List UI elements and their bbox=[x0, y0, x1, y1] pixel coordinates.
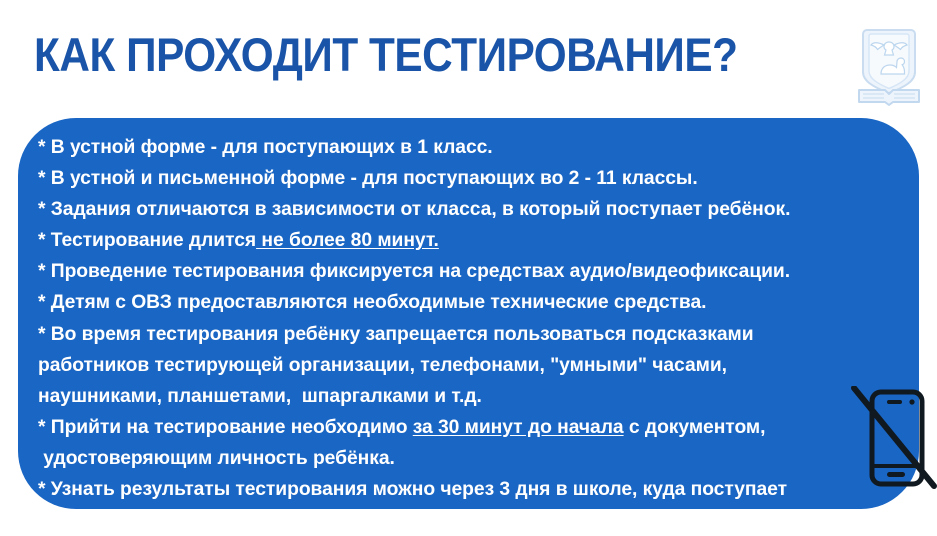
plain-text: * Задания отличаются в зависимости от кл… bbox=[38, 199, 790, 220]
line-9: наушниками, планшетами, шпаргалками и т.… bbox=[38, 381, 905, 412]
line-6: * Детям с ОВЗ предоставляются необходимы… bbox=[38, 287, 905, 318]
line-2: * В устной и письменной форме - для пост… bbox=[38, 163, 905, 194]
plain-text: * Прийти на тестирование необходимо bbox=[38, 417, 413, 438]
plain-text: * Тестирование длится bbox=[38, 230, 256, 251]
header: КАК ПРОХОДИТ ТЕСТИРОВАНИЕ? bbox=[0, 0, 937, 110]
plain-text: наушниками, планшетами, шпаргалками и т.… bbox=[38, 386, 482, 407]
line-4: * Тестирование длится не более 80 минут. bbox=[38, 225, 905, 256]
plain-text: * В устной и письменной форме - для пост… bbox=[38, 168, 698, 189]
plain-text: работников тестирующей организации, теле… bbox=[38, 355, 727, 376]
info-card: * В устной форме - для поступающих в 1 к… bbox=[18, 118, 919, 509]
line-3: * Задания отличаются в зависимости от кл… bbox=[38, 194, 905, 225]
plain-text: удостоверяющим личность ребёнка. bbox=[38, 448, 395, 469]
line-10: * Прийти на тестирование необходимо за 3… bbox=[38, 412, 905, 443]
plain-text: * Детям с ОВЗ предоставляются необходимы… bbox=[38, 292, 706, 313]
plain-text: * Проведение тестирования фиксируется на… bbox=[38, 261, 790, 282]
plain-text: * Во время тестирования ребёнку запрещае… bbox=[38, 324, 754, 345]
school-emblem-logo bbox=[853, 24, 925, 108]
line-1: * В устной форме - для поступающих в 1 к… bbox=[38, 132, 905, 163]
plain-text: ребёнок. bbox=[38, 510, 121, 531]
slide-root: КАК ПРОХОДИТ ТЕСТИРОВАНИЕ? * В устной фо… bbox=[0, 0, 937, 527]
plain-text: * Узнать результаты тестирования можно ч… bbox=[38, 479, 787, 500]
info-card-text-block: * В устной форме - для поступающих в 1 к… bbox=[38, 132, 905, 499]
line-7: * Во время тестирования ребёнку запрещае… bbox=[38, 319, 905, 350]
line-13: ребёнок. bbox=[38, 505, 905, 536]
page-title: КАК ПРОХОДИТ ТЕСТИРОВАНИЕ? bbox=[34, 29, 738, 81]
plain-text: с документом, bbox=[624, 417, 766, 438]
line-12: * Узнать результаты тестирования можно ч… bbox=[38, 474, 905, 505]
emphasis-underlined-text: за 30 минут до начала bbox=[413, 417, 624, 438]
line-8: работников тестирующей организации, теле… bbox=[38, 350, 905, 381]
line-5: * Проведение тестирования фиксируется на… bbox=[38, 256, 905, 287]
line-11: удостоверяющим личность ребёнка. bbox=[38, 443, 905, 474]
emphasis-underlined-text: не более 80 минут. bbox=[256, 230, 439, 251]
plain-text: * В устной форме - для поступающих в 1 к… bbox=[38, 137, 493, 158]
